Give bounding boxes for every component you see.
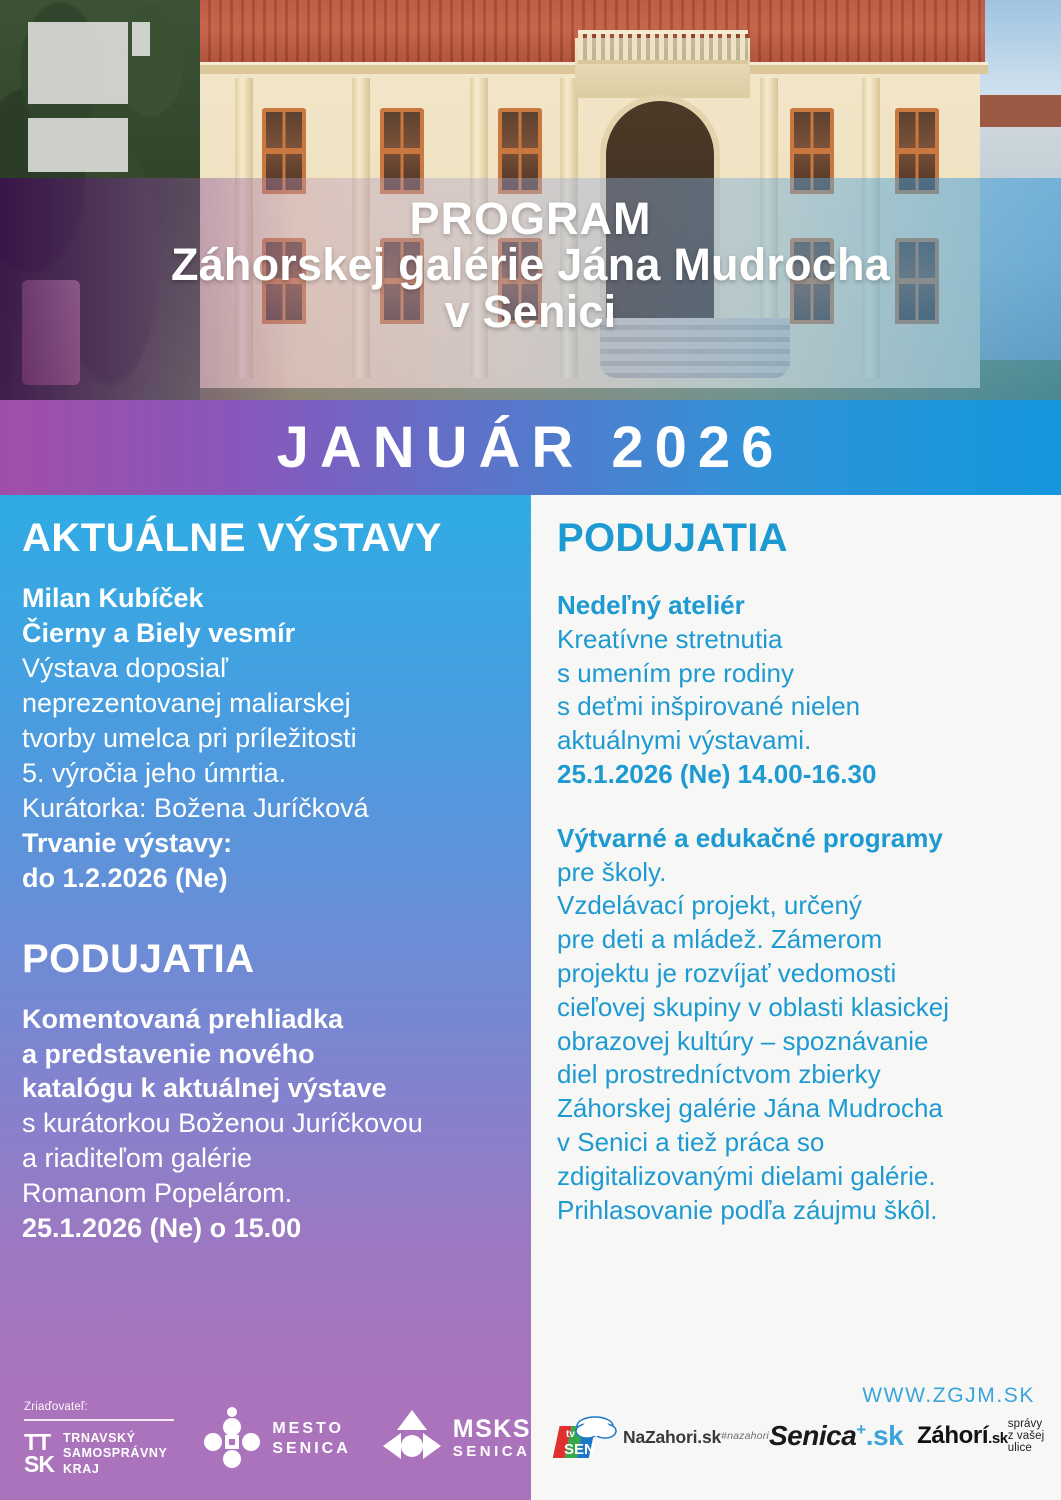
- right-event1-desc-line1: Kreatívne stretnutia: [557, 623, 1041, 657]
- senica-sk-logo: Senica+.sk: [769, 1420, 903, 1452]
- right-event1-desc-line2: s umením pre rodiny: [557, 657, 1041, 691]
- exhibition-duration-value: do 1.2.2026 (Ne): [22, 861, 507, 896]
- right-event1-block: Nedeľný ateliér Kreatívne stretnutia s u…: [557, 589, 1041, 792]
- ttsk-monogram-line2: SK: [24, 1454, 54, 1476]
- left-event-datetime: 25.1.2026 (Ne) o 15.00: [22, 1211, 507, 1246]
- zahori-sk-logo: Záhorí.sk správy z vašej ulice: [917, 1418, 1047, 1454]
- left-event-desc-line3: Romanom Popelárom.: [22, 1176, 507, 1211]
- exhibition-desc-line1: Výstava doposiaľ: [22, 651, 507, 686]
- left-column: AKTUÁLNE VÝSTAVY Milan Kubíček Čierny a …: [0, 495, 531, 1500]
- right-section-heading-events: PODUJATIA: [557, 517, 1041, 559]
- right-event2-desc-line9: v Senici a tiež práca so: [557, 1126, 1041, 1160]
- mesto-line2: SENICA: [272, 1439, 350, 1459]
- divider: [24, 1419, 174, 1421]
- mesto-senica-icon: [204, 1406, 260, 1473]
- right-event2-desc-line10: zdigitalizovanými dielami galérie.: [557, 1160, 1041, 1194]
- left-event-block: Komentovaná prehliadka a predstavenie no…: [22, 1002, 507, 1247]
- tvsen-sen-label: SEN: [564, 1441, 595, 1458]
- senica-sk-wordmark: Senica+.sk: [769, 1420, 903, 1452]
- hero-title-line1: PROGRAM: [0, 196, 1061, 242]
- ttsk-name-line3: KRAJ: [63, 1462, 168, 1478]
- website-url[interactable]: WWW.ZGJM.SK: [862, 1384, 1035, 1408]
- zahori-name: Záhorí: [917, 1422, 988, 1449]
- balustrade: [578, 30, 748, 64]
- exhibition-desc-line3: tvorby umelca pri príležitosti: [22, 721, 507, 756]
- msks-diamond-icon: [381, 1408, 443, 1471]
- exhibition-title: Čierny a Biely vesmír: [22, 616, 507, 651]
- ttsk-name-line2: SAMOSPRÁVNY: [63, 1446, 168, 1462]
- zahori-wordmark: Záhorí.sk: [917, 1422, 1008, 1450]
- exhibition-block: Milan Kubíček Čierny a Biely vesmír Výst…: [22, 581, 507, 896]
- left-event-title-line1: Komentovaná prehliadka: [22, 1002, 507, 1037]
- zahori-sk-suffix: .sk: [988, 1430, 1008, 1447]
- left-section-heading-exhibitions: AKTUÁLNE VÝSTAVY: [22, 517, 507, 559]
- right-event1-title: Nedeľný ateliér: [557, 589, 1041, 623]
- mesto-senica-text: MESTO SENICA: [272, 1419, 350, 1460]
- exhibition-desc-line2: neprezentovanej maliarskej: [22, 686, 507, 721]
- right-event2-desc-line5: cieľovej skupiny v oblasti klasickej: [557, 991, 1041, 1025]
- right-event2-title: Výtvarné a edukačné programy: [557, 822, 1041, 856]
- senica-name: Senica: [769, 1420, 856, 1451]
- hero-title-line3: v Senici: [0, 289, 1061, 335]
- right-event2-desc-line3: pre deti a mládež. Zámerom: [557, 923, 1041, 957]
- right-event2-desc-line6: obrazovej kultúry – spoznávanie: [557, 1025, 1041, 1059]
- nazahori-hashtag: #nazahori: [721, 1430, 769, 1442]
- right-event1-datetime: 25.1.2026 (Ne) 14.00-16.30: [557, 758, 1041, 792]
- right-event2-desc-line11: Prihlasovanie podľa záujmu škôl.: [557, 1194, 1041, 1228]
- msks-senica-text: MSKS SENICA: [453, 1417, 531, 1462]
- footer-left: Zriaďovateľ: TT SK TRNAVSKÝ SAMOSPRÁVNY …: [0, 1378, 531, 1500]
- exhibition-artist: Milan Kubíček: [22, 581, 507, 616]
- tvsen-tv-label: tv: [566, 1429, 575, 1440]
- zahori-tagline: správy z vašej ulice: [1008, 1418, 1047, 1454]
- msks-line1: MSKS: [453, 1417, 531, 1442]
- mesto-senica-logo: MESTO SENICA: [204, 1406, 350, 1473]
- nazahori-logo: NaZahori.sk #nazahori: [637, 1419, 755, 1453]
- month-banner-text: JANUÁR 2026: [277, 414, 785, 481]
- month-banner: JANUÁR 2026: [0, 400, 1061, 495]
- right-event2-desc-line2: Vzdelávací projekt, určený: [557, 889, 1041, 923]
- mesto-line1: MESTO: [272, 1419, 350, 1439]
- right-event2-desc-line1: pre školy.: [557, 856, 1041, 890]
- exhibition-duration-label: Trvanie výstavy:: [22, 826, 507, 861]
- nazahori-name: NaZahori.sk: [623, 1427, 721, 1448]
- tvsen-logo: tv SEN: [545, 1410, 623, 1462]
- right-event1-desc-line4: aktuálnymi výstavami.: [557, 724, 1041, 758]
- exhibition-desc-line4: 5. výročia jeho úmrtia.: [22, 756, 507, 791]
- ttsk-name-line1: TRNAVSKÝ: [63, 1431, 168, 1447]
- exhibition-curator: Kurátorka: Božena Juríčková: [22, 791, 507, 826]
- msks-senica-logo: MSKS SENICA: [381, 1408, 531, 1471]
- footer-right: WWW.ZGJM.SK tv SEN: [531, 1378, 1061, 1500]
- hero-title-line2: Záhorskej galérie Jána Mudrocha: [0, 242, 1061, 288]
- ttsk-monogram: TT SK: [24, 1432, 54, 1476]
- left-event-desc-line2: a riaditeľom galérie: [22, 1141, 507, 1176]
- right-event1-desc-line3: s deťmi inšpirované nielen: [557, 690, 1041, 724]
- hero-image: PROGRAM Záhorskej galérie Jána Mudrocha …: [0, 0, 1061, 400]
- spacer: [557, 792, 1041, 822]
- zriadovatel-label: Zriaďovateľ:: [24, 1401, 174, 1413]
- right-column: PODUJATIA Nedeľný ateliér Kreatívne stre…: [531, 495, 1061, 1500]
- msks-line2: SENICA: [453, 1442, 531, 1462]
- ttsk-logo: Zriaďovateľ: TT SK TRNAVSKÝ SAMOSPRÁVNY …: [24, 1401, 174, 1478]
- left-event-title-line3: katalógu k aktuálnej výstave: [22, 1071, 507, 1106]
- right-event2-desc-line4: projektu je rozvíjať vedomosti: [557, 957, 1041, 991]
- poster-root: PROGRAM Záhorskej galérie Jána Mudrocha …: [0, 0, 1061, 1500]
- partner-logos: tv SEN NaZahori.sk #nazahori Senica+.sk: [531, 1410, 1061, 1462]
- senica-sk-suffix: .sk: [866, 1420, 903, 1451]
- zgjm-logo: [28, 22, 150, 172]
- ttsk-logo-row: TT SK TRNAVSKÝ SAMOSPRÁVNY KRAJ: [24, 1431, 174, 1478]
- hero-title: PROGRAM Záhorskej galérie Jána Mudrocha …: [0, 196, 1061, 335]
- content-columns: AKTUÁLNE VÝSTAVY Milan Kubíček Čierny a …: [0, 495, 1061, 1500]
- senica-plus: +: [856, 1420, 865, 1439]
- left-event-title-line2: a predstavenie nového: [22, 1037, 507, 1072]
- right-event2-block: Výtvarné a edukačné programy pre školy. …: [557, 822, 1041, 1228]
- spacer: [22, 896, 507, 938]
- right-event2-desc-line8: Záhorskej galérie Jána Mudrocha: [557, 1092, 1041, 1126]
- right-event2-desc-line7: diel prostredníctvom zbierky: [557, 1058, 1041, 1092]
- left-section-heading-events: PODUJATIA: [22, 938, 507, 980]
- left-event-desc-line1: s kurátorkou Boženou Juríčkovou: [22, 1106, 507, 1141]
- ttsk-name: TRNAVSKÝ SAMOSPRÁVNY KRAJ: [63, 1431, 168, 1478]
